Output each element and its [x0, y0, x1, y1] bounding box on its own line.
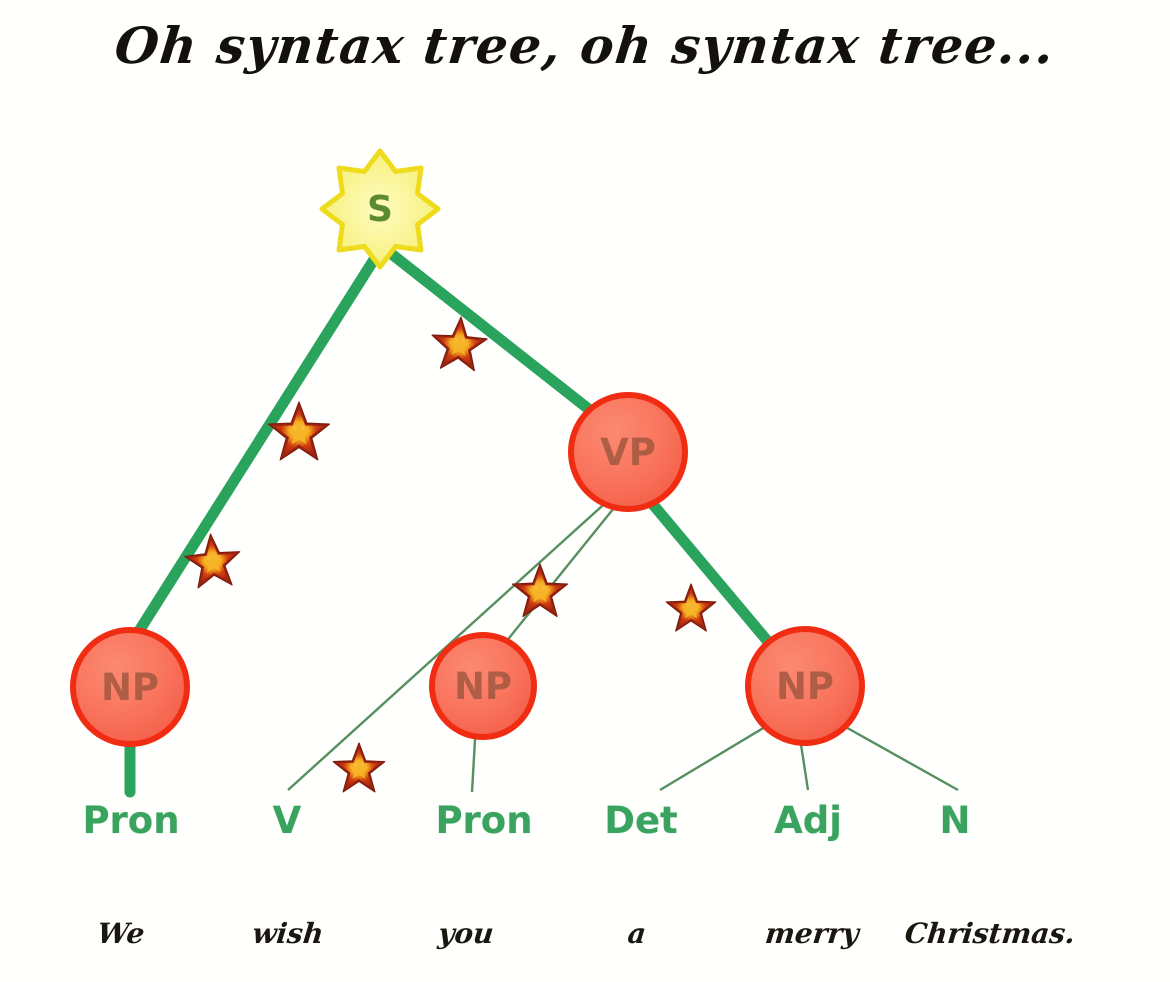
- sentence-word: a: [626, 917, 648, 950]
- branch-vp-to-np3: [645, 495, 775, 650]
- node-label: VP: [600, 431, 656, 474]
- leaf-label-n[interactable]: N: [940, 799, 971, 842]
- leaf-label-pron[interactable]: Pron: [435, 799, 532, 842]
- sentence-word: you: [437, 917, 496, 950]
- tree-node-np3[interactable]: NP: [748, 629, 862, 743]
- tree-node-np1[interactable]: NP: [73, 630, 187, 744]
- tree-node-s[interactable]: S: [322, 151, 438, 267]
- branch-s-to-vp: [384, 248, 600, 418]
- branch-vp-to-np2: [501, 498, 622, 648]
- node-label: NP: [101, 666, 159, 709]
- node-label: S: [367, 189, 393, 230]
- branch-np3-to-det: [660, 724, 770, 790]
- leaf-label-v[interactable]: V: [273, 799, 302, 842]
- sentence-word: wish: [251, 917, 325, 950]
- sentence-word: Christmas.: [903, 917, 1076, 950]
- leaf-label-det[interactable]: Det: [604, 799, 678, 842]
- sentence-word: We: [96, 917, 146, 950]
- tree-node-vp[interactable]: VP: [571, 395, 685, 509]
- leaf-label-adj[interactable]: Adj: [774, 799, 842, 842]
- node-label: NP: [454, 665, 512, 708]
- branch-star-icon: [512, 564, 567, 616]
- branch-s-to-np1: [127, 250, 380, 650]
- christmas-syntax-tree-figure: Oh syntax tree, oh syntax tree... SVPNPN…: [0, 0, 1170, 982]
- node-label: NP: [776, 665, 834, 708]
- tree-nodes: SVPNPNPNP: [73, 151, 862, 744]
- tree-node-np2[interactable]: NP: [432, 635, 534, 737]
- leaf-label-pron[interactable]: Pron: [82, 799, 179, 842]
- sentence-word: merry: [764, 917, 861, 950]
- branch-np3-to-n: [842, 725, 958, 790]
- branch-star-icon: [333, 743, 384, 792]
- branch-star-icon: [666, 584, 715, 631]
